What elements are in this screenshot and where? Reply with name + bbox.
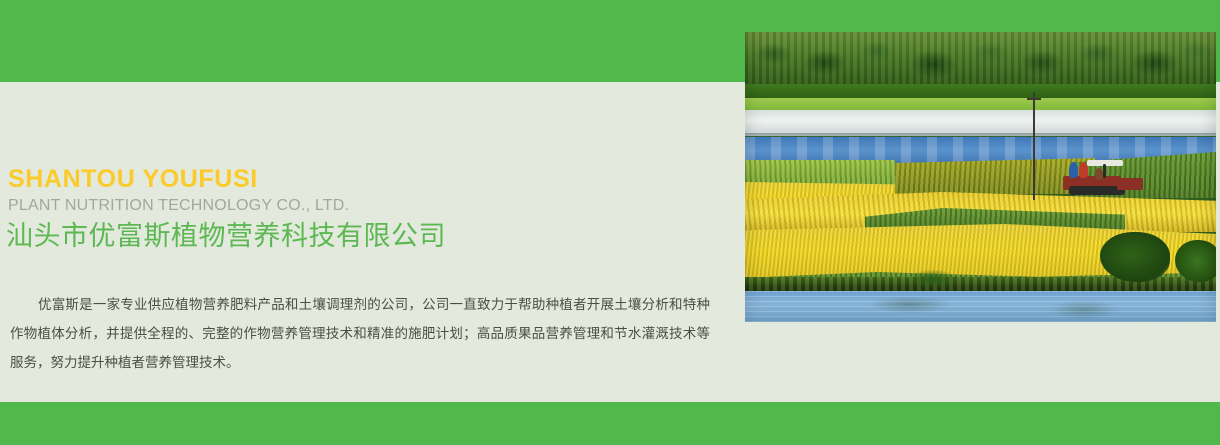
farmland-photo <box>745 32 1216 322</box>
bank-shrub-center <box>910 270 956 288</box>
company-intro-column: SHANTOU YOUFUSI PLANT NUTRITION TECHNOLO… <box>0 0 745 445</box>
utility-pole <box>1033 92 1035 200</box>
worker-driver <box>1095 168 1103 180</box>
company-profile-page: SHANTOU YOUFUSI PLANT NUTRITION TECHNOLO… <box>0 0 1220 445</box>
brand-tagline-english: PLANT NUTRITION TECHNOLOGY CO., LTD. <box>8 198 349 214</box>
brand-name-chinese: 汕头市优富斯植物营养科技有限公司 <box>6 220 446 254</box>
field-green-strip-left <box>745 160 895 186</box>
pond-water <box>745 291 1216 322</box>
utility-pole-crossarm <box>1027 98 1041 100</box>
harvester-hopper <box>1117 178 1143 190</box>
farmland-photo-canvas <box>745 32 1216 322</box>
brand-name-english: SHANTOU YOUFUSI <box>8 167 258 192</box>
worker-red <box>1079 162 1088 178</box>
company-description-paragraph: 优富斯是一家专业供应植物营养肥料产品和土壤调理剂的公司，公司一直致力于帮助种植者… <box>10 291 710 378</box>
harvester-canopy-post <box>1103 164 1106 178</box>
worker-blue <box>1069 162 1078 178</box>
bank-shrub-right <box>1100 232 1170 282</box>
distant-tree-line <box>745 32 1216 88</box>
